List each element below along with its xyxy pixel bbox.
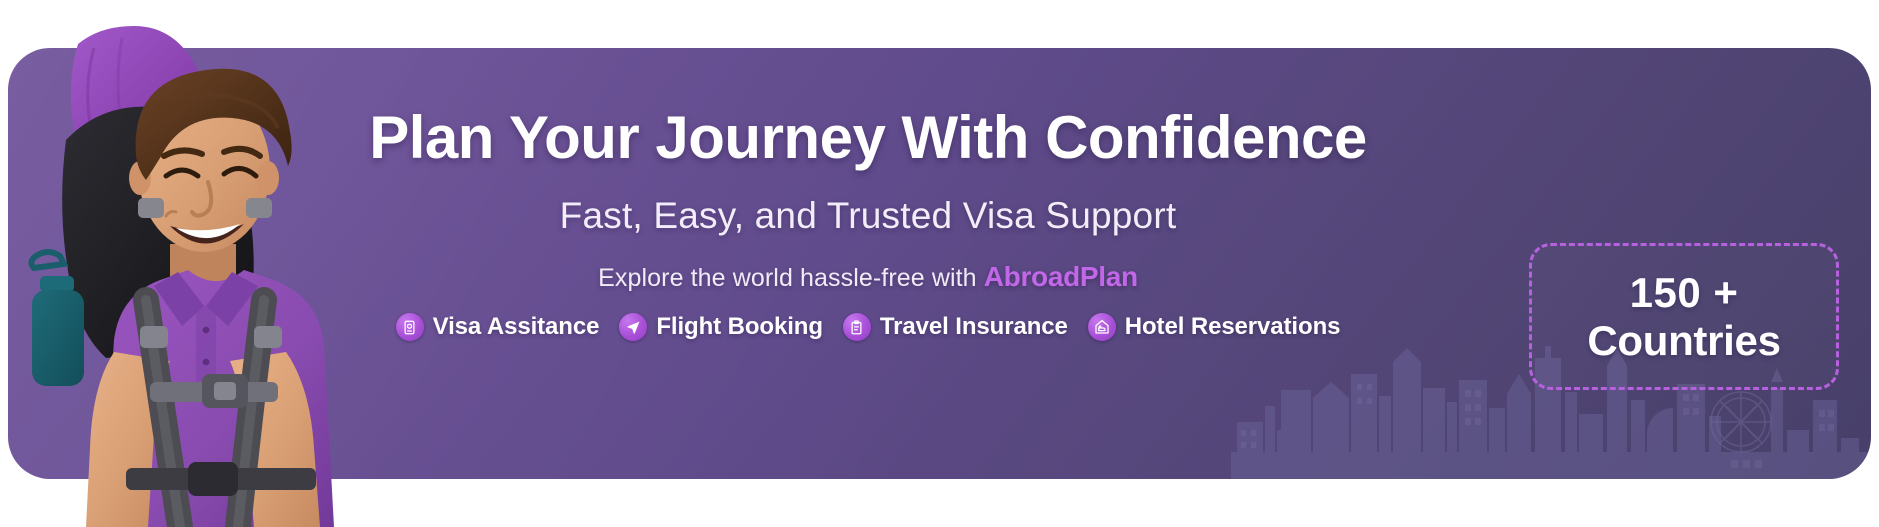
feature-label: Hotel Reservations <box>1125 313 1341 341</box>
clipboard-icon <box>843 313 871 341</box>
hotel-icon <box>1088 313 1116 341</box>
page-title: Plan Your Journey With Confidence <box>338 106 1398 169</box>
badge-word: Countries <box>1587 317 1780 364</box>
feature-label: Travel Insurance <box>880 313 1068 341</box>
banner-copy: Plan Your Journey With Confidence Fast, … <box>338 106 1398 341</box>
visa-promo-banner: Plan Your Journey With Confidence Fast, … <box>0 0 1879 527</box>
passport-icon <box>396 313 424 341</box>
brand-name: AbroadPlan <box>984 261 1138 292</box>
airplane-icon <box>619 313 647 341</box>
feature-item-flight-booking[interactable]: Flight Booking <box>619 313 823 341</box>
feature-item-hotel-reservations[interactable]: Hotel Reservations <box>1088 313 1341 341</box>
feature-label: Flight Booking <box>656 313 823 341</box>
feature-item-travel-insurance[interactable]: Travel Insurance <box>843 313 1068 341</box>
tagline: Explore the world hassle-free with Abroa… <box>338 260 1398 294</box>
tagline-prefix: Explore the world hassle-free with <box>598 264 977 292</box>
countries-badge[interactable]: 150 + Countries <box>1529 243 1839 390</box>
subheadline: Fast, Easy, and Trusted Visa Support <box>338 195 1398 238</box>
hero-card: Plan Your Journey With Confidence Fast, … <box>8 48 1871 479</box>
feature-label: Visa Assitance <box>433 313 600 341</box>
feature-list: Visa Assitance Flight Booking <box>338 313 1398 341</box>
feature-item-visa-assistance[interactable]: Visa Assitance <box>396 313 600 341</box>
badge-count: 150 + <box>1630 269 1739 316</box>
